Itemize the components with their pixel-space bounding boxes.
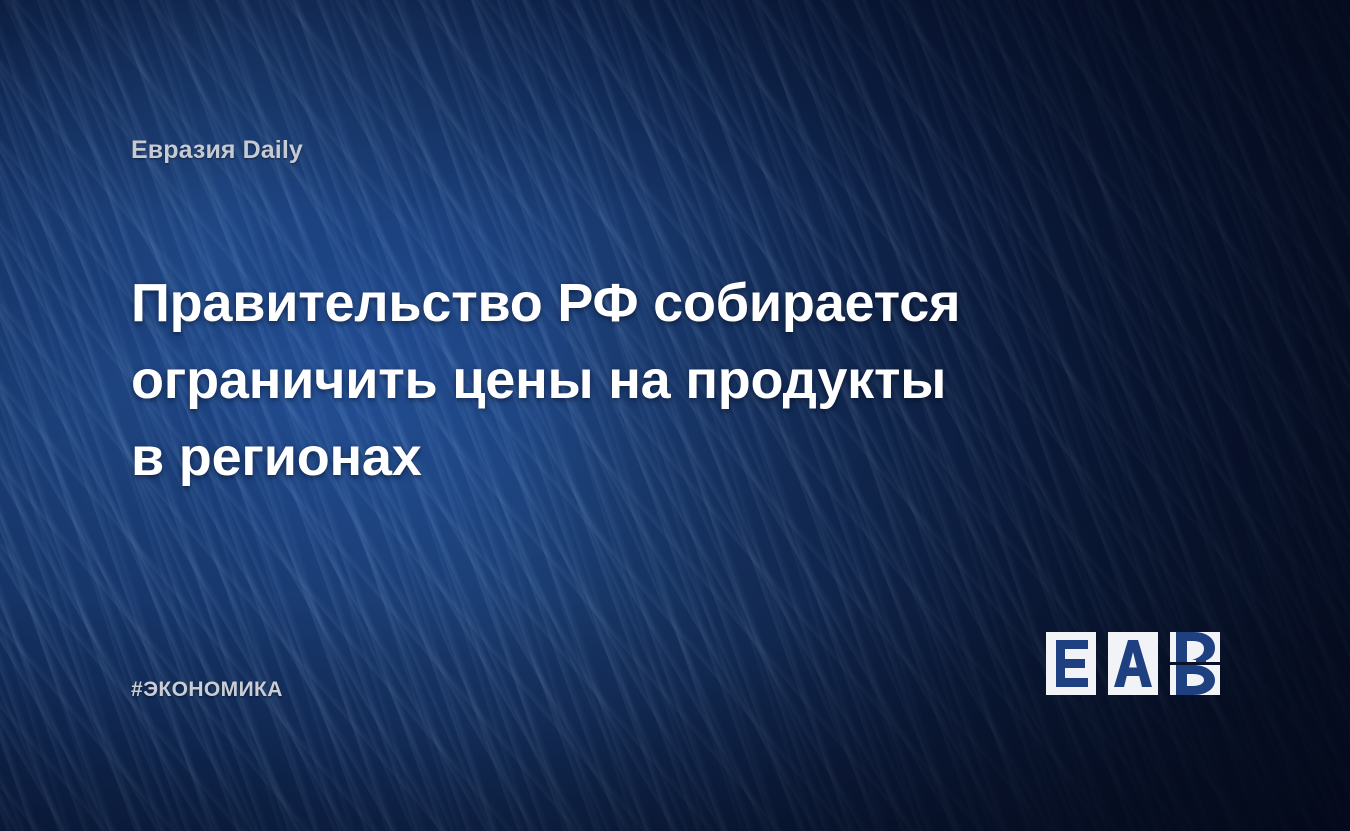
logo-letter-a-icon [1108, 632, 1158, 695]
card-content: Евразия Daily Правительство РФ собираетс… [0, 0, 1350, 831]
headline-line-1: Правительство РФ собирается [131, 265, 1011, 342]
headline-line-3: в регионах [131, 419, 1011, 496]
headline-line-2: ограничить цены на продукты [131, 342, 1011, 419]
logo-letter-d-icon [1170, 632, 1220, 695]
news-card: Евразия Daily Правительство РФ собираетс… [0, 0, 1350, 831]
brand-title: Евразия Daily [131, 136, 303, 165]
page-title: Правительство РФ собирается ограничить ц… [131, 265, 1011, 496]
logo-letter-e-icon [1046, 632, 1096, 695]
eadaily-logo[interactable] [1046, 632, 1220, 695]
category-hashtag[interactable]: #ЭКОНОМИКА [131, 678, 283, 702]
